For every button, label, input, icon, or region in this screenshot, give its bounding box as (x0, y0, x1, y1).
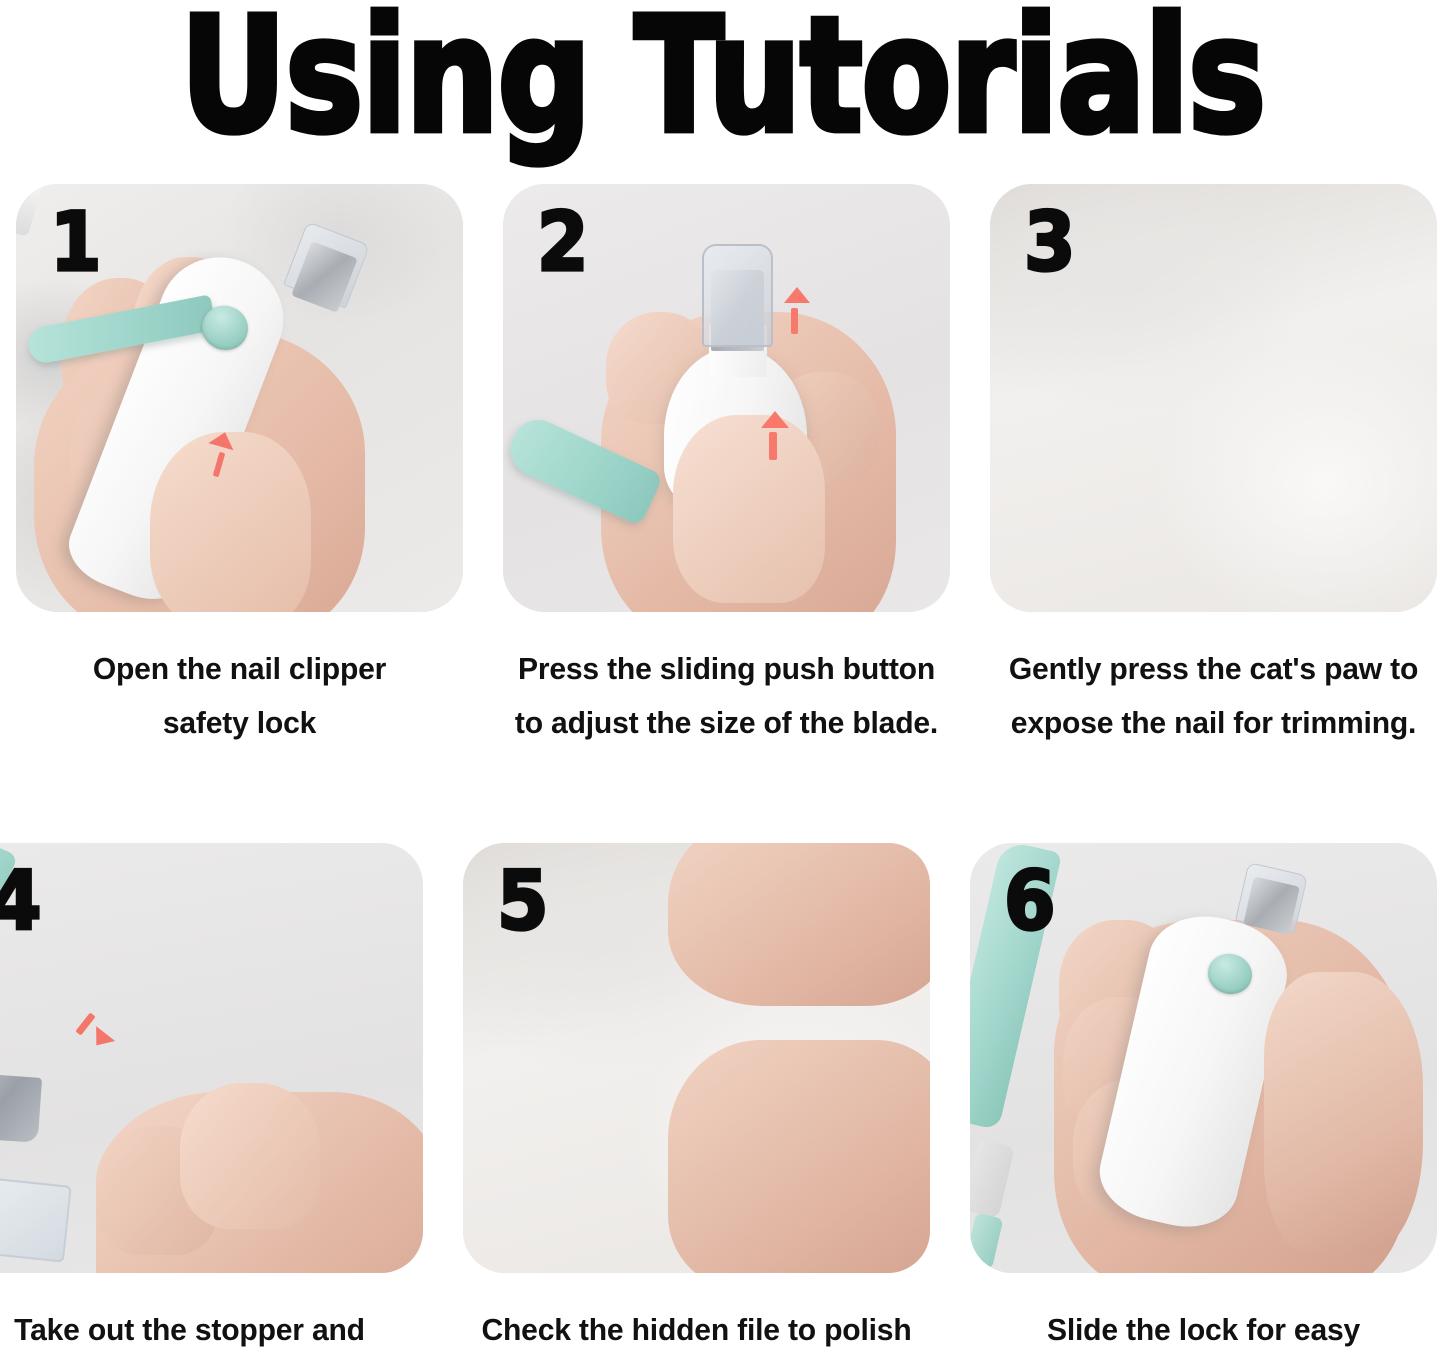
hand-shape (668, 843, 930, 1006)
step-card-6: 6 Slide the lock for easy storage. (970, 843, 1437, 1369)
step-number-badge: 4 (0, 861, 42, 942)
palm-shape (1264, 972, 1423, 1256)
caption-line: Gently press the cat's paw to (997, 642, 1431, 696)
step-image-4: 4 (0, 843, 423, 1273)
up-arrow-icon (784, 287, 810, 303)
hand-shape (668, 1040, 930, 1272)
step-caption-4: Take out the stopper and pour off the de… (0, 1303, 416, 1369)
step-card-4: 4 Take out the stopper and pour off the … (0, 843, 423, 1369)
step-image-2: 2 (503, 184, 950, 612)
caption-line: expose the nail for trimming. (997, 696, 1431, 750)
finger-shape (180, 1083, 320, 1229)
page-header: Using Tutorials (0, 0, 1445, 150)
step-image-1: 1 (16, 184, 463, 612)
steps-row-top: 1 Open the nail clipper safety lock (8, 184, 1437, 751)
caption-line: Take out the stopper and (0, 1303, 416, 1357)
step-number-badge: 2 (537, 202, 589, 283)
step-number-badge: 5 (497, 861, 549, 942)
tutorial-steps-grid: 1 Open the nail clipper safety lock (0, 184, 1445, 1369)
caption-line: Press the sliding push button (510, 642, 944, 696)
clipper-clear-cap (702, 244, 774, 347)
up-arrow-icon (761, 411, 789, 428)
step-caption-6: Slide the lock for easy storage. (977, 1303, 1430, 1369)
step-number-badge: 1 (50, 202, 102, 283)
caption-line: the nails. (470, 1357, 923, 1369)
up-arrow-stem (769, 432, 777, 460)
up-arrow-stem (791, 308, 798, 334)
step-number-badge: 6 (1004, 861, 1056, 942)
caption-line: Check the hidden file to polish (470, 1303, 923, 1357)
step-image-3: 3 (990, 184, 1437, 612)
step-caption-2: Press the sliding push button to adjust … (510, 642, 944, 751)
step-card-3: 3 Gently press the cat's paw to expose t… (990, 184, 1437, 751)
steps-row-bottom: 4 Take out the stopper and pour off the … (8, 843, 1437, 1369)
step-card-2: 2 Press the sliding push button to adjus… (503, 184, 950, 751)
page-title: Using Tutorials (180, 0, 1265, 156)
scene-removing-clear-stopper-from-clipper-head (0, 843, 423, 1273)
step-caption-1: Open the nail clipper safety lock (23, 642, 457, 751)
caption-line: to adjust the size of the blade. (510, 696, 944, 750)
thumb-shape (150, 432, 311, 612)
caption-line: Open the nail clipper (23, 642, 457, 696)
caption-line: Slide the lock for easy (977, 1303, 1430, 1357)
step-number-badge: 3 (1024, 202, 1076, 283)
clear-stopper-part (0, 1174, 72, 1263)
clipper-steel-blade-head (0, 1072, 42, 1142)
caption-line: storage. (977, 1357, 1430, 1369)
thumb-shape (673, 415, 825, 603)
step-caption-3: Gently press the cat's paw to expose the… (997, 642, 1431, 751)
step-card-5: 5 Check the hidden file to polish the na… (463, 843, 930, 1369)
caption-line: safety lock (23, 696, 457, 750)
step-caption-5: Check the hidden file to polish the nail… (470, 1303, 923, 1369)
step-card-1: 1 Open the nail clipper safety lock (16, 184, 463, 751)
step-image-6: 6 (970, 843, 1437, 1273)
step-image-5: 5 (463, 843, 930, 1273)
caption-line: pour off the debris (0, 1357, 416, 1369)
